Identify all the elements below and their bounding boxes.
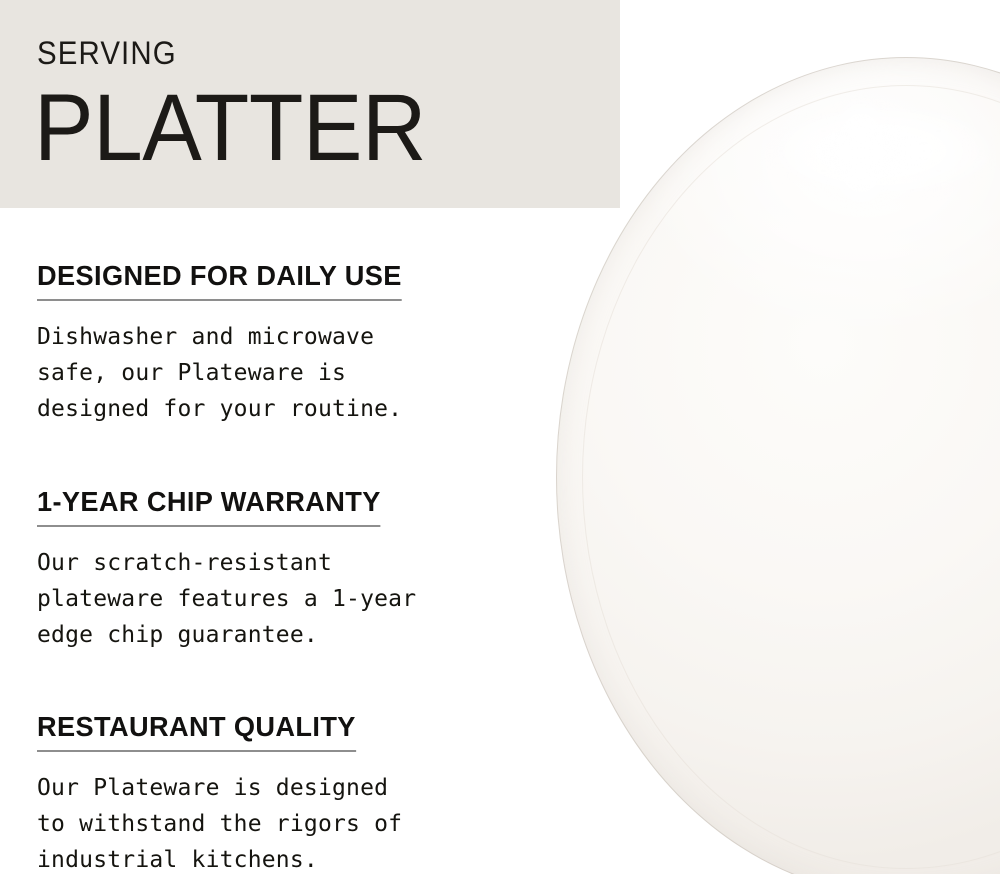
feature-heading: DESIGNED FOR DAILY USE xyxy=(37,260,402,301)
feature-block-restaurant-quality: RESTAURANT QUALITY Our Plateware is desi… xyxy=(37,711,557,874)
plate-highlight-secondary xyxy=(824,93,898,213)
feature-body: Our Plateware is designed to withstand t… xyxy=(37,770,557,874)
feature-body: Dishwasher and microwave safe, our Plate… xyxy=(37,319,557,427)
product-feature-page: SERVING PLATTER DESIGNED FOR DAILY USE D… xyxy=(0,0,1000,874)
feature-block-designed-for-daily-use: DESIGNED FOR DAILY USE Dishwasher and mi… xyxy=(37,260,557,427)
feature-block-chip-warranty: 1-YEAR CHIP WARRANTY Our scratch-resista… xyxy=(37,486,557,653)
feature-heading: RESTAURANT QUALITY xyxy=(37,711,356,752)
page-title: PLATTER xyxy=(34,80,426,176)
feature-heading: 1-YEAR CHIP WARRANTY xyxy=(37,486,381,527)
product-eyebrow: SERVING xyxy=(37,36,177,70)
header-band: SERVING PLATTER xyxy=(0,0,620,208)
serving-platter-photo xyxy=(556,57,1000,874)
feature-body: Our scratch-resistant plateware features… xyxy=(37,545,557,653)
